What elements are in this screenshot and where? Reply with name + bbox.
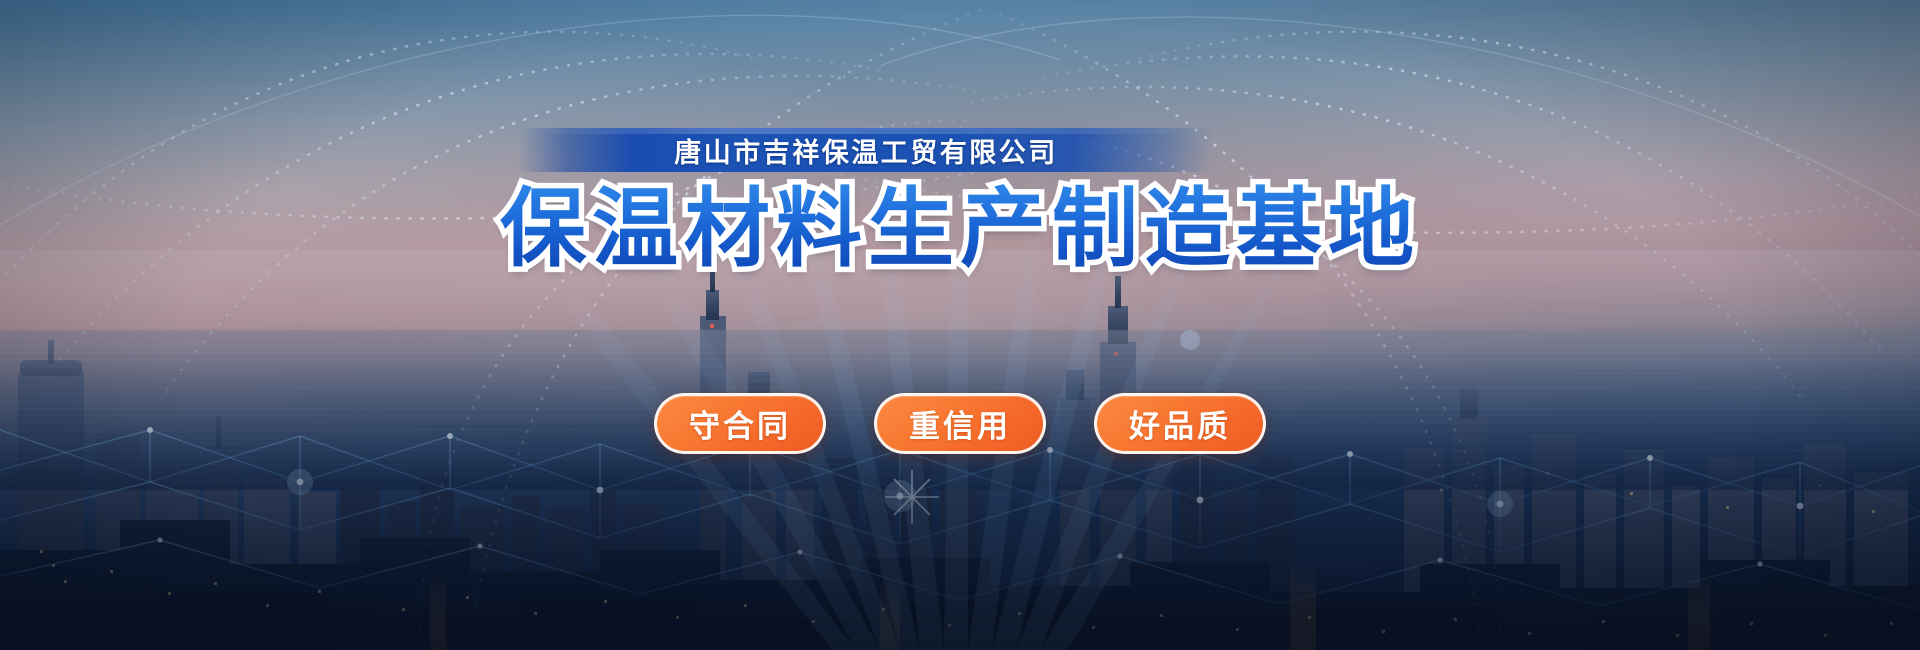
headline-text: 保温材料生产制造基地 [500,181,1420,277]
headline: 保温材料生产制造基地 保温材料生产制造基地 [0,186,1920,272]
banner-copy: 唐山市吉祥保温工贸有限公司 保温材料生产制造基地 保温材料生产制造基地 守合同 … [0,0,1920,650]
badge-pill-2[interactable]: 重信用 [874,393,1046,454]
badge-pill-1[interactable]: 守合同 [654,393,826,454]
badge-label: 好品质 [1129,401,1231,446]
hero-banner: 唐山市吉祥保温工贸有限公司 保温材料生产制造基地 保温材料生产制造基地 守合同 … [0,0,1920,650]
company-name-band: 唐山市吉祥保温工贸有限公司 [520,128,1212,172]
badge-label: 守合同 [689,401,791,446]
company-name: 唐山市吉祥保温工贸有限公司 [674,131,1058,170]
badge-label: 重信用 [909,401,1011,446]
badge-pill-3[interactable]: 好品质 [1094,393,1266,454]
badge-row: 守合同 重信用 好品质 [0,393,1920,454]
